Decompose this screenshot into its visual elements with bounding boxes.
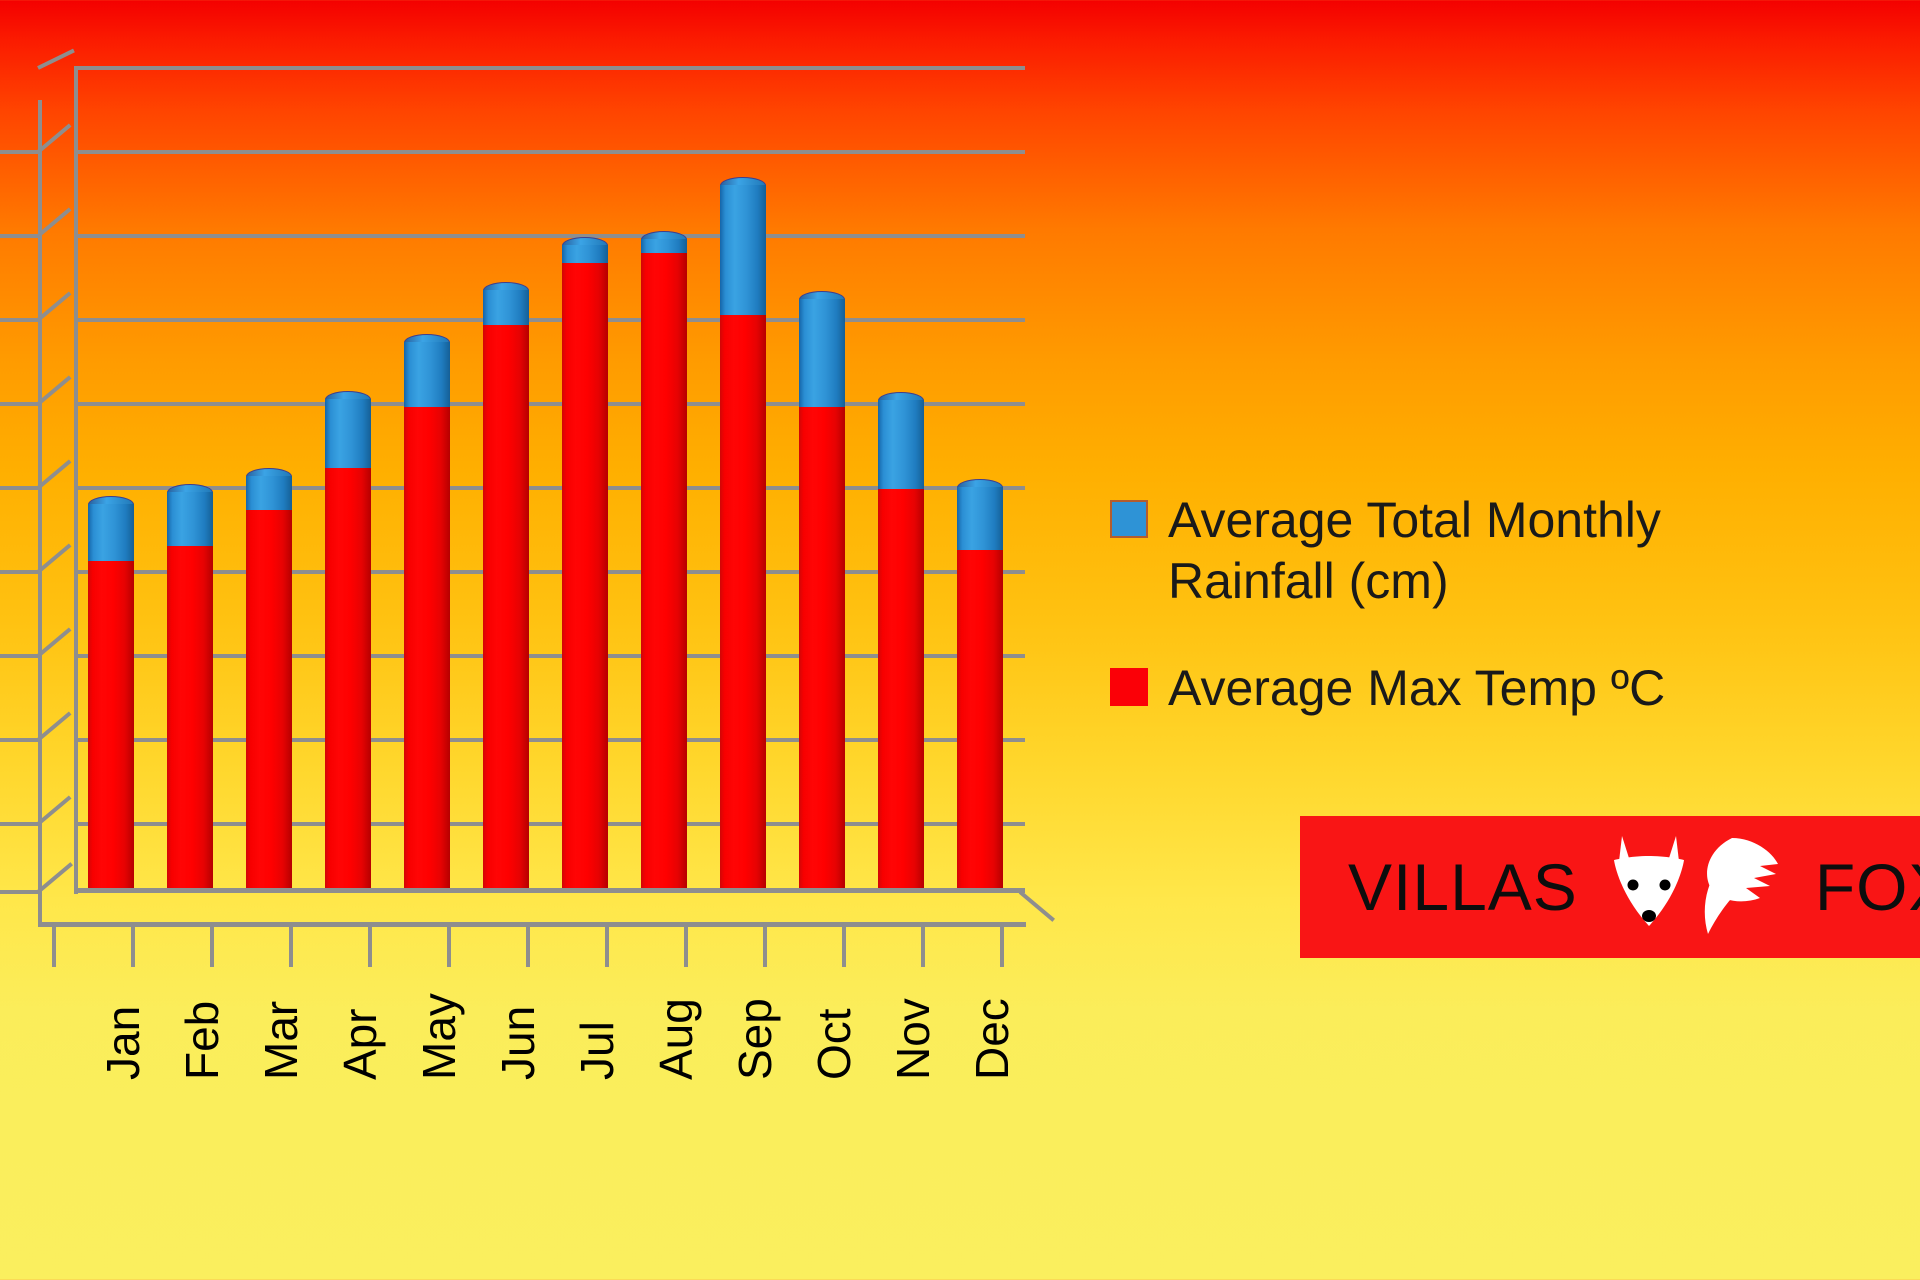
x-axis-tick <box>52 927 56 967</box>
bar-oct[interactable] <box>799 291 845 891</box>
legend-swatch-rainfall-icon <box>1110 500 1148 538</box>
cylinder-body <box>483 324 529 890</box>
chart-legend: Average Total Monthly Rainfall (cm) Aver… <box>1110 490 1920 765</box>
chart-plot-area: JanFebMarAprMayJunJulAugSepOctNovDec <box>0 0 1060 1000</box>
x-axis-left-depth-edge <box>37 862 73 893</box>
bar-segment-temperature <box>167 537 213 890</box>
cylinder-body <box>799 299 845 408</box>
bar-segment-rainfall <box>88 496 134 561</box>
cylinder-body <box>167 545 213 890</box>
bar-segment-rainfall <box>325 391 371 469</box>
gridline <box>75 234 1025 238</box>
logo-word-fox: FOX <box>1815 849 1920 925</box>
x-label-jul: Jul <box>570 1021 624 1080</box>
cylinder-body <box>957 487 1003 550</box>
y-axis-tick <box>0 486 40 490</box>
bar-segment-rainfall <box>246 468 292 509</box>
bar-jul[interactable] <box>562 237 608 890</box>
bar-apr[interactable] <box>325 391 371 890</box>
y-axis-tick <box>0 570 40 574</box>
x-label-mar: Mar <box>254 1001 308 1080</box>
x-label-dec: Dec <box>965 998 1019 1080</box>
y-axis-front <box>38 100 42 926</box>
cylinder-body <box>641 239 687 253</box>
x-label-apr: Apr <box>333 1008 387 1080</box>
legend-swatch-temperature-icon <box>1110 668 1148 706</box>
y-axis-tick <box>0 738 40 742</box>
cylinder-body <box>720 314 766 890</box>
bar-segment-temperature <box>483 316 529 890</box>
plot-top-depth-edge <box>37 49 75 70</box>
bar-feb[interactable] <box>167 484 213 890</box>
x-axis-tick <box>289 927 293 967</box>
x-label-may: May <box>412 993 466 1080</box>
bar-segment-rainfall <box>483 282 529 325</box>
y-axis-tick <box>0 150 40 154</box>
gridline <box>75 318 1025 322</box>
bar-segment-rainfall <box>720 177 766 315</box>
x-axis-tick <box>684 927 688 967</box>
bar-segment-temperature <box>878 480 924 890</box>
bar-may[interactable] <box>404 334 450 891</box>
cylinder-body <box>246 509 292 891</box>
cylinder-body <box>167 492 213 547</box>
bar-segment-rainfall <box>641 231 687 253</box>
villas-fox-logo[interactable]: VILLAS FOX <box>1300 816 1920 958</box>
gridline <box>75 150 1025 154</box>
cylinder-body <box>878 400 924 489</box>
cylinder-body <box>799 406 845 890</box>
cylinder-body <box>325 467 371 890</box>
bar-segment-temperature <box>799 398 845 890</box>
cylinder-body <box>562 245 608 263</box>
cylinder-body <box>957 549 1003 890</box>
fox-icon <box>1604 830 1789 945</box>
x-axis-right-depth-edge <box>1019 890 1055 921</box>
bar-jan[interactable] <box>88 496 134 890</box>
bar-segment-rainfall <box>404 334 450 408</box>
cylinder-body <box>88 504 134 561</box>
x-label-jun: Jun <box>491 1006 545 1080</box>
x-label-oct: Oct <box>807 1008 861 1080</box>
bar-mar[interactable] <box>246 468 292 890</box>
cylinder-body <box>483 290 529 325</box>
cylinder-body <box>246 476 292 509</box>
x-label-sep: Sep <box>728 998 782 1080</box>
x-axis-tick <box>1000 927 1004 967</box>
cylinder-body <box>641 252 687 890</box>
bar-sep[interactable] <box>720 177 766 890</box>
bar-segment-rainfall <box>878 392 924 489</box>
legend-label-rainfall: Average Total Monthly Rainfall (cm) <box>1168 490 1661 612</box>
legend-item-temperature[interactable]: Average Max Temp ºC <box>1110 658 1920 719</box>
y-axis-tick <box>0 654 40 658</box>
legend-item-rainfall[interactable]: Average Total Monthly Rainfall (cm) <box>1110 490 1920 612</box>
y-axis-tick <box>0 822 40 826</box>
x-label-feb: Feb <box>175 1001 229 1080</box>
x-axis-tick <box>210 927 214 967</box>
cylinder-body <box>88 560 134 890</box>
bar-aug[interactable] <box>641 231 687 890</box>
x-axis-tick <box>842 927 846 967</box>
bar-nov[interactable] <box>878 392 924 890</box>
bar-segment-rainfall <box>167 484 213 547</box>
plot-top-edge <box>75 66 1025 70</box>
bar-segment-temperature <box>641 244 687 890</box>
x-label-nov: Nov <box>886 998 940 1080</box>
x-axis-tick <box>131 927 135 967</box>
x-axis-tick <box>605 927 609 967</box>
cylinder-body <box>720 185 766 315</box>
y-axis <box>74 66 78 894</box>
x-axis-back <box>75 888 1025 893</box>
legend-label-temperature: Average Max Temp ºC <box>1168 658 1665 719</box>
x-axis-tick <box>763 927 767 967</box>
x-axis-tick <box>368 927 372 967</box>
x-axis-front <box>38 922 1026 927</box>
x-axis-tick <box>526 927 530 967</box>
x-axis-tick <box>921 927 925 967</box>
y-axis-tick <box>0 402 40 406</box>
bar-segment-temperature <box>404 398 450 890</box>
logo-word-villas: VILLAS <box>1348 849 1578 925</box>
bar-segment-temperature <box>562 254 608 890</box>
x-axis-tick <box>447 927 451 967</box>
bar-segment-temperature <box>957 541 1003 890</box>
cylinder-body <box>562 262 608 890</box>
cylinder-body <box>404 406 450 890</box>
bar-dec[interactable] <box>957 479 1003 890</box>
bar-segment-temperature <box>720 306 766 890</box>
cylinder-body <box>325 399 371 469</box>
y-axis-tick <box>0 234 40 238</box>
x-label-aug: Aug <box>649 998 703 1080</box>
bar-segment-temperature <box>246 501 292 891</box>
cylinder-body <box>878 488 924 890</box>
y-axis-tick <box>0 890 40 894</box>
bar-segment-rainfall <box>957 479 1003 550</box>
y-axis-tick <box>0 318 40 322</box>
bar-segment-rainfall <box>799 291 845 408</box>
bar-segment-rainfall <box>562 237 608 263</box>
bar-jun[interactable] <box>483 282 529 890</box>
bar-segment-temperature <box>88 552 134 890</box>
cylinder-body <box>404 342 450 408</box>
x-label-jan: Jan <box>96 1006 150 1080</box>
bar-segment-temperature <box>325 459 371 890</box>
